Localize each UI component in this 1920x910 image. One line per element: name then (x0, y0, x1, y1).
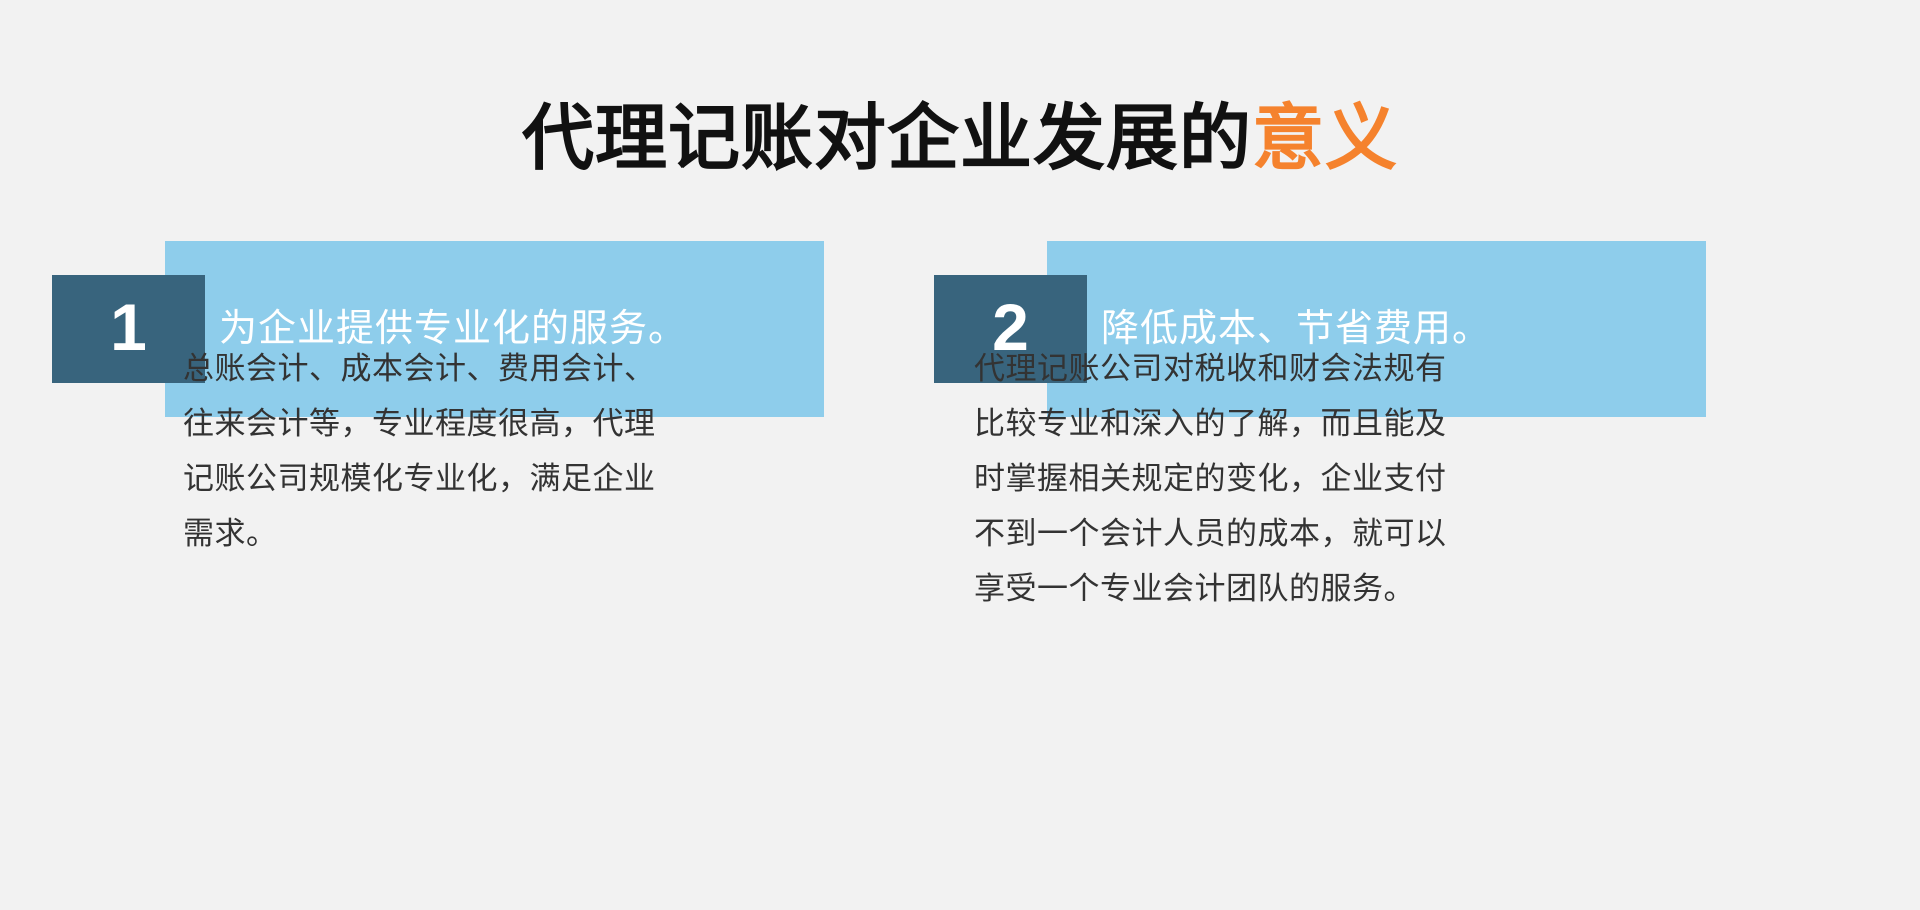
content-card-1: 1 为企业提供专业化的服务。 总账会计、成本会计、费用会计、 往来会计等，专业程… (52, 241, 824, 417)
page-title-main: 代理记账对企业发展的 (522, 99, 1252, 179)
slide-canvas: 代理记账对企业发展的意义 1 为企业提供专业化的服务。 总账会计、成本会计、费用… (0, 0, 1920, 910)
card-2-body: 代理记账公司对税收和财会法规有 比较专业和深入的了解，而且能及 时掌握相关规定的… (974, 341, 1594, 616)
content-card-2: 2 降低成本、节省费用。 代理记账公司对税收和财会法规有 比较专业和深入的了解，… (934, 241, 1706, 417)
page-title: 代理记账对企业发展的意义 (0, 96, 1920, 182)
card-1-number: 1 (110, 294, 147, 360)
card-1-body: 总账会计、成本会计、费用会计、 往来会计等，专业程度很高，代理 记账公司规模化专… (183, 341, 803, 561)
page-title-accent: 意义 (1252, 99, 1398, 179)
